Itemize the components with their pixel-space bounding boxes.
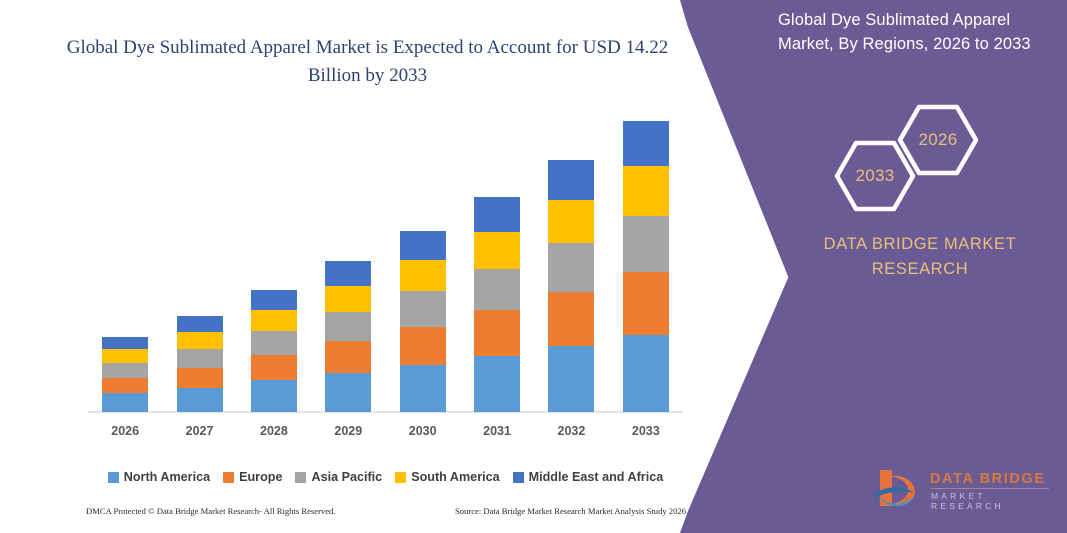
bar-column-2026 — [89, 120, 161, 412]
stacked-bar — [177, 316, 223, 412]
bar-segment-europe — [474, 310, 520, 355]
hexagon-2026-label: 2026 — [918, 130, 957, 150]
bar-segment-europe — [177, 368, 223, 388]
stacked-bar — [102, 337, 148, 412]
bar-segment-asia-pacific — [623, 216, 669, 272]
x-axis-label-2033: 2033 — [610, 424, 682, 444]
stacked-bar — [474, 197, 520, 412]
legend-label: Europe — [239, 470, 282, 484]
legend-swatch-icon — [395, 472, 406, 483]
legend-swatch-icon — [295, 472, 306, 483]
stacked-bar-chart — [88, 120, 683, 412]
legend-swatch-icon — [108, 472, 119, 483]
legend-item-north-america[interactable]: North America — [108, 470, 210, 484]
bar-segment-south-america — [325, 286, 371, 312]
legend-label: Middle East and Africa — [529, 470, 664, 484]
company-logo: DATA BRIDGE MARKET RESEARCH — [874, 466, 1054, 512]
bar-segment-middle-east-and-africa — [548, 160, 594, 200]
legend-label: Asia Pacific — [311, 470, 382, 484]
bar-segment-south-america — [548, 200, 594, 244]
bar-segment-asia-pacific — [177, 349, 223, 367]
legend-item-europe[interactable]: Europe — [223, 470, 282, 484]
legend-swatch-icon — [513, 472, 524, 483]
x-axis-label-2032: 2032 — [535, 424, 607, 444]
bar-segment-europe — [251, 355, 297, 380]
bar-segment-north-america — [102, 393, 148, 412]
x-axis-labels: 20262027202820292030203120322033 — [88, 424, 683, 444]
bar-column-2027 — [164, 120, 236, 412]
bar-segment-asia-pacific — [548, 243, 594, 292]
infographic-canvas: Global Dye Sublimated Apparel Market is … — [0, 0, 1067, 533]
bar-column-2030 — [387, 120, 459, 412]
bar-segment-europe — [400, 327, 446, 365]
bar-segment-middle-east-and-africa — [400, 231, 446, 260]
legend-item-middle-east-and-africa[interactable]: Middle East and Africa — [513, 470, 664, 484]
bar-segment-south-america — [251, 310, 297, 332]
bar-column-2031 — [461, 120, 533, 412]
bar-segment-europe — [623, 272, 669, 335]
stacked-bar — [548, 160, 594, 412]
x-axis-label-2029: 2029 — [312, 424, 384, 444]
x-axis-label-2026: 2026 — [89, 424, 161, 444]
legend-item-south-america[interactable]: South America — [395, 470, 499, 484]
bar-segment-middle-east-and-africa — [102, 337, 148, 350]
bar-segment-south-america — [623, 166, 669, 216]
bar-column-2029 — [312, 120, 384, 412]
bar-column-2028 — [238, 120, 310, 412]
hexagon-2033-label: 2033 — [855, 166, 894, 186]
x-axis-label-2031: 2031 — [461, 424, 533, 444]
legend-label: South America — [411, 470, 499, 484]
bar-segment-europe — [325, 341, 371, 373]
page-title: Global Dye Sublimated Apparel Market is … — [60, 34, 675, 90]
x-axis-label-2030: 2030 — [387, 424, 459, 444]
chart-legend: North AmericaEuropeAsia PacificSouth Ame… — [88, 470, 683, 484]
footer-copyright: DMCA Protected © Data Bridge Market Rese… — [86, 506, 336, 516]
stacked-bar — [623, 121, 669, 412]
bar-segment-asia-pacific — [474, 269, 520, 311]
logo-tagline: MARKET RESEARCH — [931, 491, 1054, 511]
bar-column-2033 — [610, 120, 682, 412]
bar-segment-south-america — [177, 332, 223, 349]
bar-segment-middle-east-and-africa — [474, 197, 520, 231]
bar-segment-middle-east-and-africa — [623, 121, 669, 166]
bar-segment-north-america — [474, 356, 520, 412]
bar-segment-north-america — [177, 388, 223, 412]
legend-swatch-icon — [223, 472, 234, 483]
bar-segment-north-america — [623, 335, 669, 412]
bar-segment-asia-pacific — [102, 363, 148, 378]
logo-divider — [931, 488, 1049, 489]
stacked-bar — [325, 261, 371, 412]
stacked-bar — [251, 290, 297, 412]
x-axis-label-2027: 2027 — [164, 424, 236, 444]
legend-label: North America — [124, 470, 210, 484]
bar-segment-north-america — [548, 346, 594, 412]
footer-source: Source: Data Bridge Market Research Mark… — [455, 506, 686, 516]
footer: DMCA Protected © Data Bridge Market Rese… — [86, 506, 686, 516]
x-axis-label-2028: 2028 — [238, 424, 310, 444]
bar-segment-south-america — [102, 349, 148, 363]
logo-wordmark: DATA BRIDGE — [930, 471, 1046, 487]
bar-segment-south-america — [474, 232, 520, 269]
bar-segment-north-america — [251, 380, 297, 412]
brand-name: DATA BRIDGE MARKET RESEARCH — [790, 232, 1050, 282]
bar-segment-europe — [548, 292, 594, 346]
data-bridge-logo-icon — [874, 466, 924, 512]
legend-item-asia-pacific[interactable]: Asia Pacific — [295, 470, 382, 484]
bar-column-2032 — [535, 120, 607, 412]
hexagon-badge-2033: 2033 — [833, 139, 917, 213]
bar-segment-asia-pacific — [251, 331, 297, 355]
bar-segment-middle-east-and-africa — [251, 290, 297, 310]
bar-segment-asia-pacific — [325, 312, 371, 341]
stacked-bar — [400, 231, 446, 412]
bar-segment-middle-east-and-africa — [177, 316, 223, 332]
bar-segment-south-america — [400, 260, 446, 292]
bar-segment-middle-east-and-africa — [325, 261, 371, 285]
bar-segment-europe — [102, 378, 148, 393]
bar-segment-north-america — [325, 373, 371, 412]
bar-segment-asia-pacific — [400, 291, 446, 326]
bar-segment-north-america — [400, 365, 446, 412]
panel-title: Global Dye Sublimated Apparel Market, By… — [778, 8, 1056, 56]
